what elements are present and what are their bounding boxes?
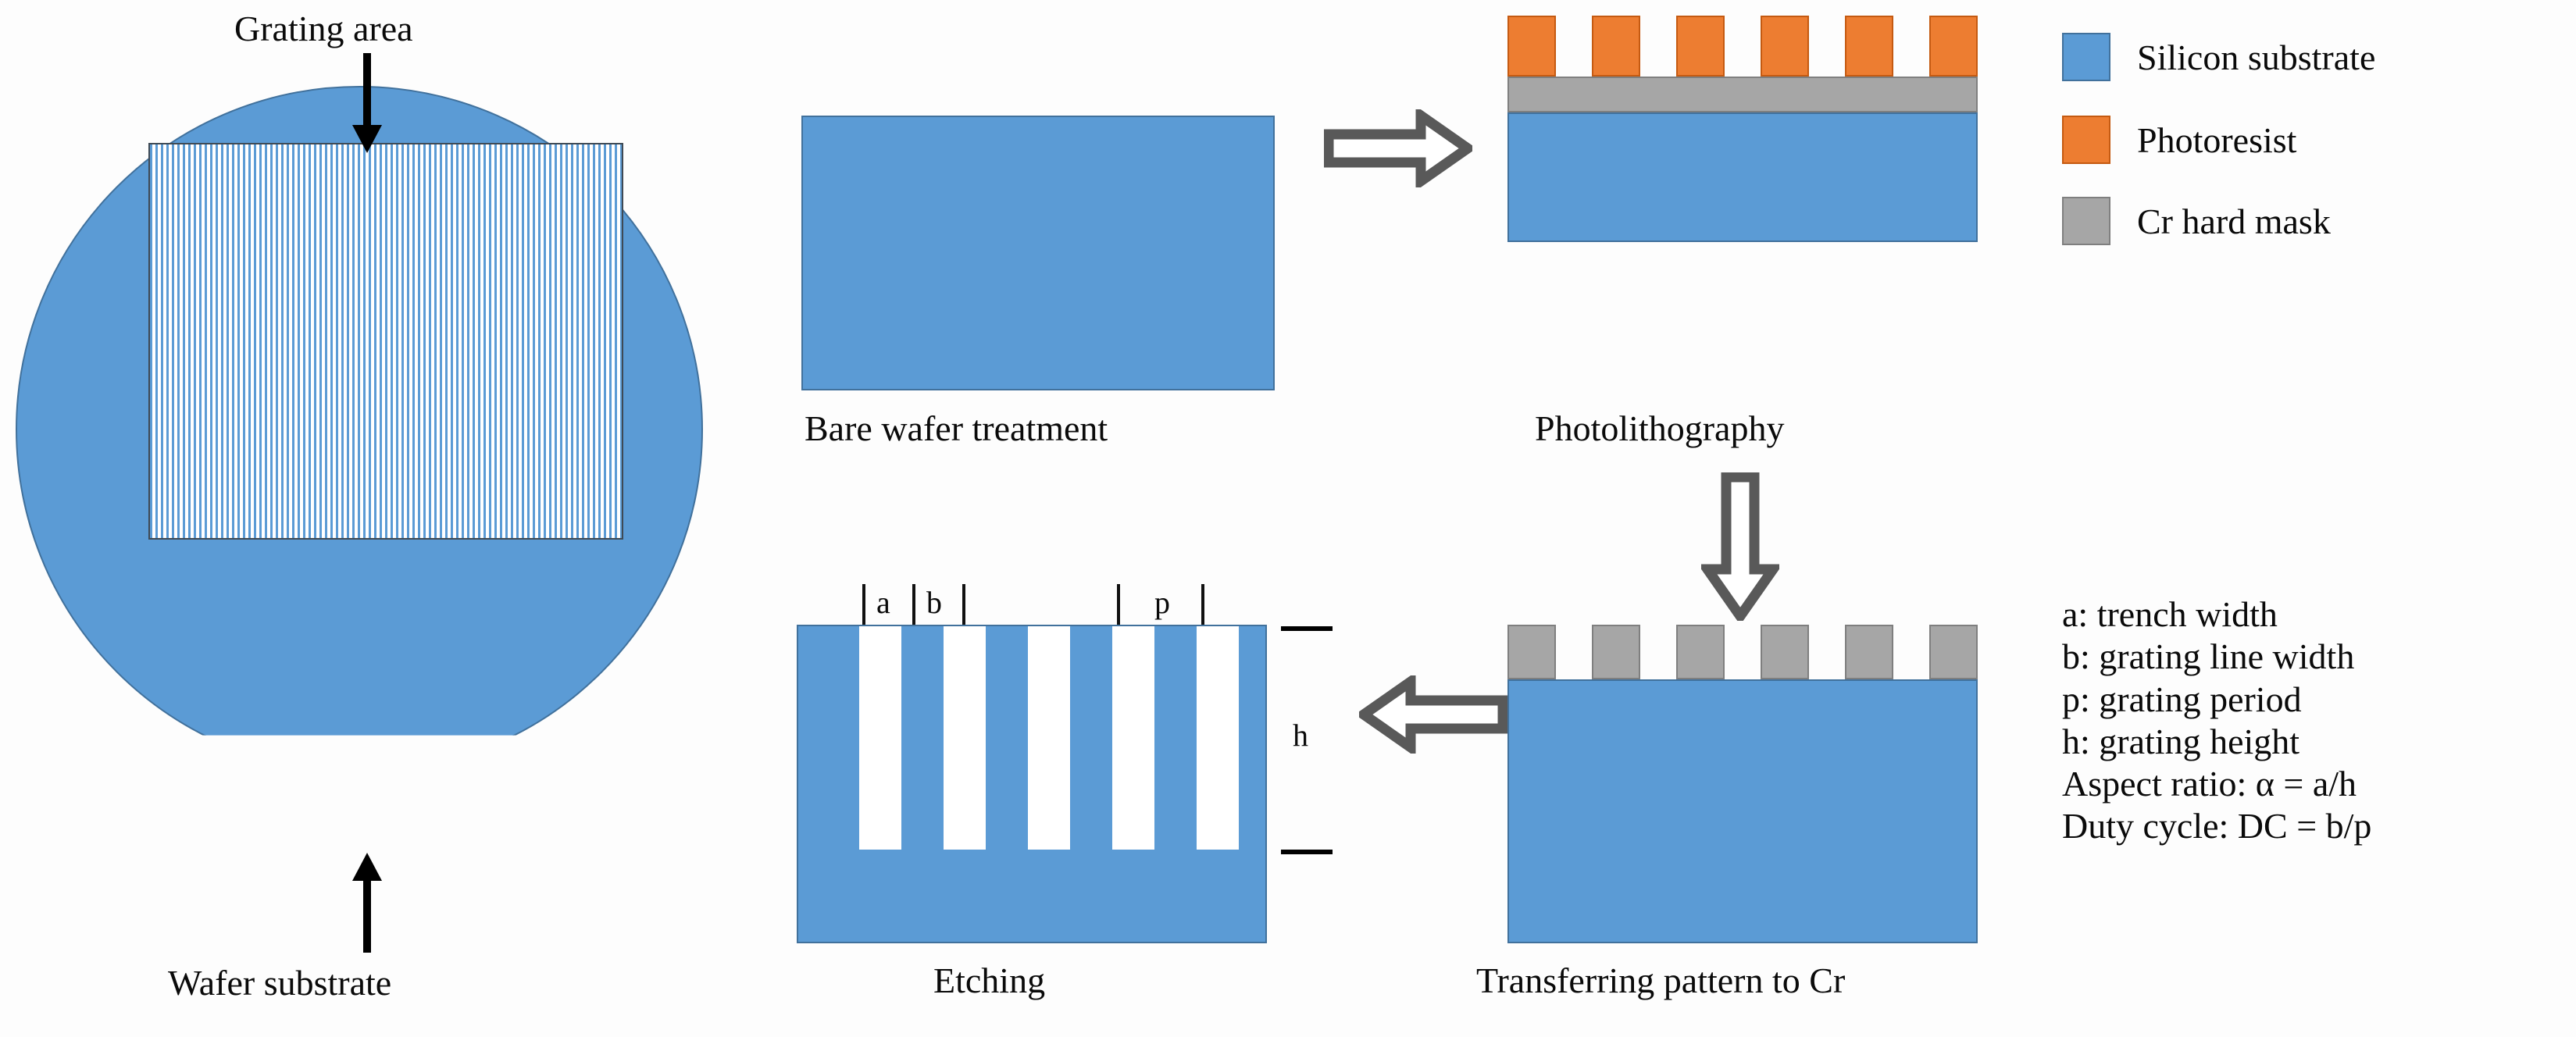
definition-line: h: grating height <box>2062 721 2371 763</box>
definition-line: p: grating period <box>2062 679 2371 721</box>
wafer-diagram <box>16 86 719 789</box>
cr-mask-bar <box>1929 625 1978 679</box>
legend-label-photoresist: Photoresist <box>2137 119 2296 161</box>
dimension-tick-b-right <box>962 584 965 625</box>
step-photolithography-panel <box>1507 16 1982 242</box>
definition-line: Aspect ratio: α = a/h <box>2062 763 2371 805</box>
wafer-substrate-label: Wafer substrate <box>168 962 391 1003</box>
dimension-tick-a-left <box>862 584 865 625</box>
definition-line: Duty cycle: DC = b/p <box>2062 805 2371 847</box>
definition-line: a: trench width <box>2062 593 2371 636</box>
photoresist-bar <box>1592 16 1640 77</box>
wafer-substrate-pointer-arrow <box>344 851 391 953</box>
cr-mask-bar <box>1592 625 1640 679</box>
legend-swatch-silicon-icon <box>2062 33 2110 81</box>
etched-trench <box>1197 626 1239 850</box>
cr-mask-bar <box>1507 625 1556 679</box>
legend-swatch-chromium-icon <box>2062 197 2110 245</box>
grating-area-label: Grating area <box>234 8 413 49</box>
legend-swatch-photoresist-icon <box>2062 116 2110 164</box>
definitions-block: a: trench width b: grating line width p:… <box>2062 593 2371 848</box>
photoresist-bar <box>1507 16 1556 77</box>
dimension-label-h: h <box>1293 717 1310 754</box>
step-etching-caption: Etching <box>933 962 1045 1000</box>
etched-trench <box>944 626 986 850</box>
figure-canvas: Grating area Wafer substrate Bare wafer … <box>0 0 2576 1037</box>
grating-area-region <box>148 143 623 540</box>
legend-item-photoresist: Photoresist <box>2062 116 2296 164</box>
dimension-label-b: b <box>926 584 944 621</box>
cr-mask-bar <box>1676 625 1725 679</box>
silicon-substrate-block <box>1507 112 1978 242</box>
step-bare-wafer-panel <box>801 116 1275 390</box>
arrow-down-icon <box>1701 472 1779 621</box>
step-photolithography-caption: Photolithography <box>1535 410 1784 447</box>
arrow-right-icon <box>1324 109 1472 187</box>
etched-trench <box>1028 626 1070 850</box>
photoresist-bar <box>1845 16 1893 77</box>
dimension-tick-h-bottom <box>1281 850 1333 854</box>
cr-mask-bar <box>1845 625 1893 679</box>
cr-hard-mask-layer <box>1507 77 1978 112</box>
step-etching-panel <box>797 625 1272 945</box>
photoresist-bar <box>1929 16 1978 77</box>
step-bare-wafer-caption: Bare wafer treatment <box>805 410 1108 447</box>
silicon-substrate-block <box>801 116 1275 390</box>
arrow-left-icon <box>1359 675 1507 754</box>
dimension-label-a: a <box>876 584 892 621</box>
dimension-label-p: p <box>1154 584 1172 621</box>
cr-mask-bar <box>1761 625 1809 679</box>
legend-label-cr-hard-mask: Cr hard mask <box>2137 201 2331 242</box>
grating-area-pointer-arrow <box>344 53 391 155</box>
silicon-substrate-block <box>1507 679 1978 943</box>
dimension-tick-p-left <box>1117 584 1120 625</box>
legend-label-silicon-substrate: Silicon substrate <box>2137 37 2375 78</box>
step-transfer-cr-caption: Transferring pattern to Cr <box>1476 962 1845 1000</box>
step-transfer-cr-panel <box>1507 625 1982 943</box>
legend-item-silicon-substrate: Silicon substrate <box>2062 33 2375 81</box>
dimension-tick-h-top <box>1281 626 1333 631</box>
etched-trench <box>1112 626 1154 850</box>
definition-line: b: grating line width <box>2062 636 2371 678</box>
photoresist-bar <box>1676 16 1725 77</box>
etched-trench <box>859 626 901 850</box>
photoresist-bar <box>1761 16 1809 77</box>
dimension-tick-a-right <box>912 584 915 625</box>
legend-item-cr-hard-mask: Cr hard mask <box>2062 197 2331 245</box>
dimension-tick-p-right <box>1201 584 1204 625</box>
